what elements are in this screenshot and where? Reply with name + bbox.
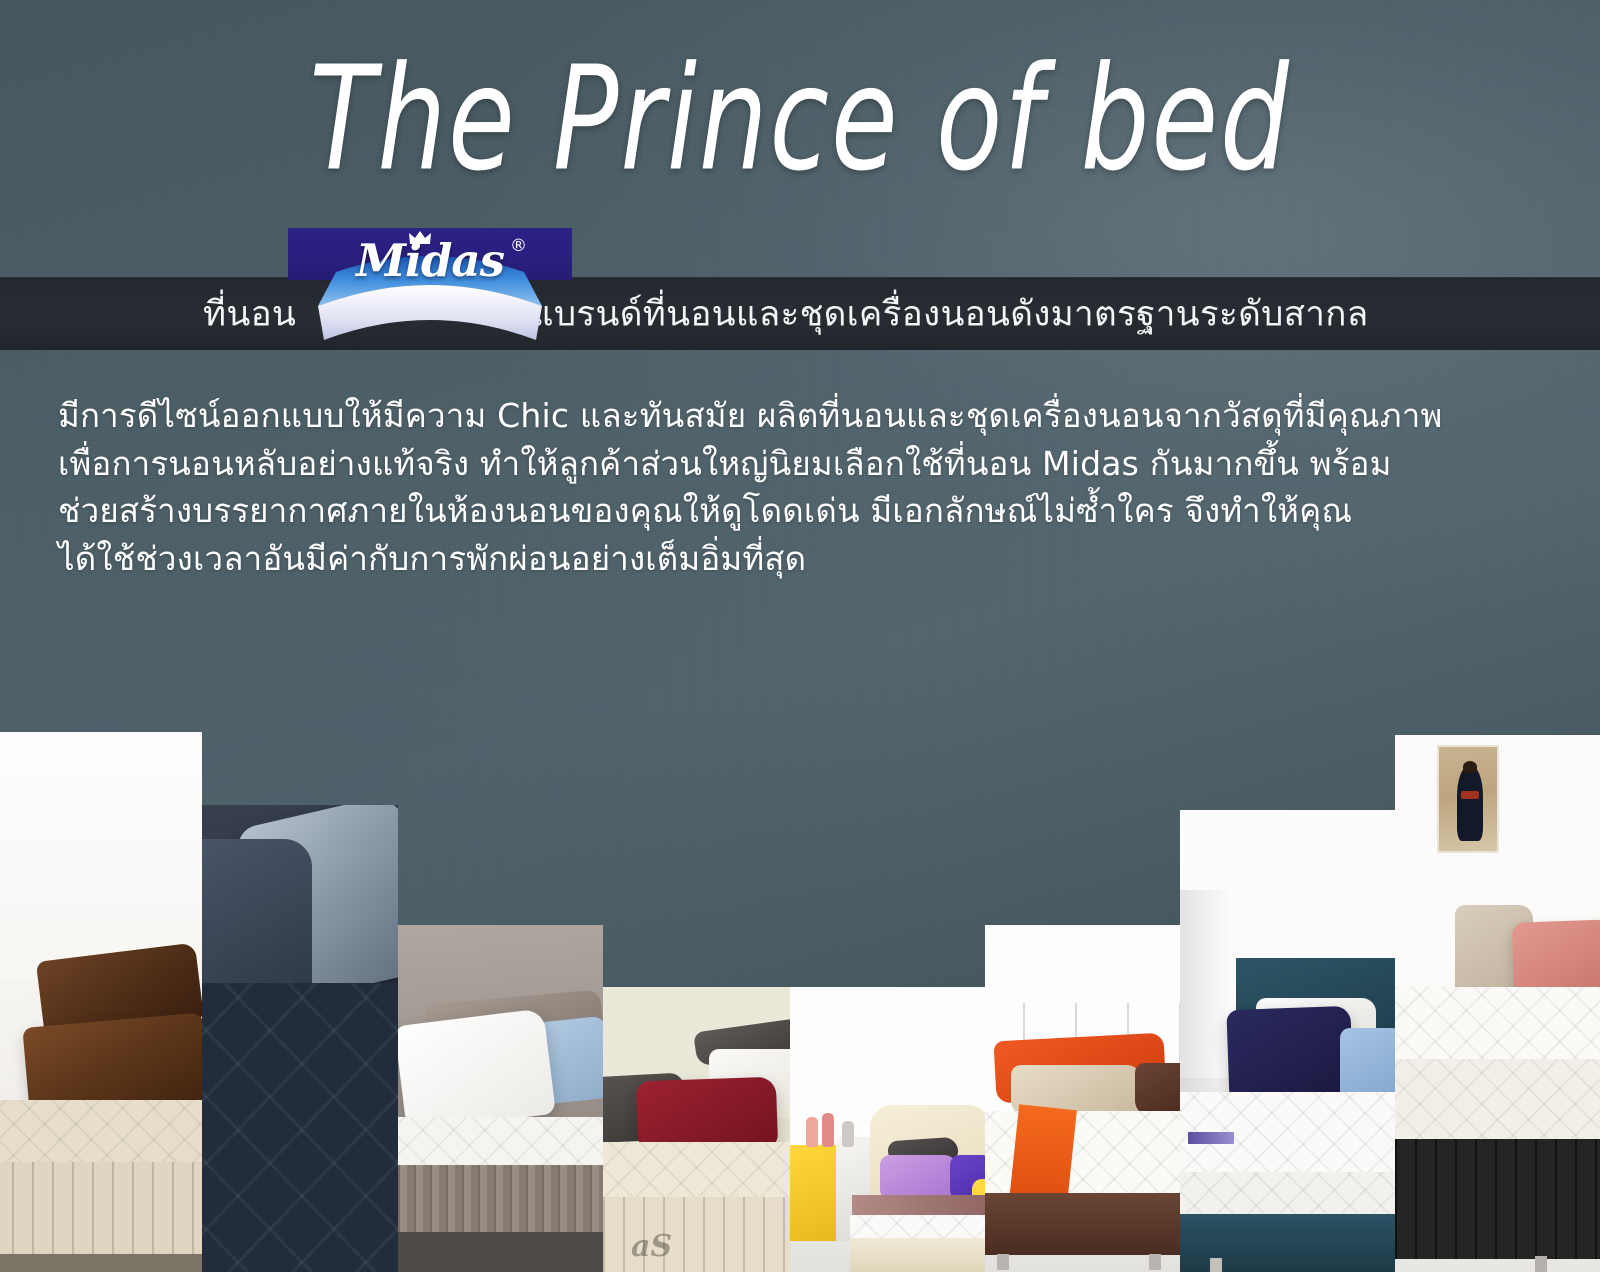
banner-label-tagline: แบรนด์ที่นอนและชุดเครื่องนอนดังมาตรฐานระ… [531,286,1368,341]
bed-foot-right [1149,1254,1161,1270]
bed-foot-left [997,1254,1009,1270]
panel-maroon-pillow-bed: aS [603,987,790,1272]
bed-base-dark [398,1232,603,1272]
registered-trademark-icon: ® [510,236,527,256]
bed-foot-black [1535,1256,1547,1272]
mattress-white-pillowtop [1395,987,1600,1065]
bed-base-cream [850,1238,985,1272]
nightstand-yellow [790,1145,840,1241]
mattress-topper-cream [0,1100,202,1166]
bed-foot-teal [1210,1258,1222,1272]
quilt-navy [202,983,398,1272]
pillow-navy-behind [202,839,312,1007]
bed-base-shadow [0,1254,202,1272]
body-line-2: เพื่อการนอนหลับอย่างแท้จริง ทำให้ลูกค้าส… [58,440,1548,488]
brand-banner: ที่นอน แบรนด์ที่นอนและชุดเครื่องนอนดังมา… [0,277,1600,350]
wall-artwork-kimono [1437,745,1499,853]
body-line-3: ช่วยสร้างบรรยากาศภายในห้องนอนของคุณให้ดู… [58,487,1548,535]
mattress-white-top [398,1117,603,1169]
pillow-white-main [398,1008,556,1131]
body-paragraph: มีการดีไซน์ออกแบบให้มีความ Chic และทันสม… [58,392,1548,582]
body-line-4: ได้ใช้ช่วงเวลาอันมีค่ากับการพักผ่อนอย่าง… [58,535,1548,583]
vase-rose [822,1113,834,1147]
kimono-figure-icon [1457,767,1483,841]
panel-taupe-headboard-bed [398,925,603,1272]
page-title: The Prince of bed [64,44,1536,195]
crown-icon [408,230,432,246]
vase-pink [806,1117,818,1147]
panel-brown-headboard-orange [985,925,1180,1272]
vase-grey [842,1121,854,1147]
mattress-label-tag [1188,1132,1234,1144]
midas-logo: Midas ® [288,228,572,346]
mattress-cream-quilted [603,1142,790,1200]
bed-base-black [1395,1139,1600,1259]
kimono-sash [1461,791,1479,799]
panel-navy-quilted-bedding [202,805,398,1272]
panel-cream-bed-brown-pillows [0,732,202,1272]
bed-base-brown [985,1193,1180,1255]
midas-watermark: aS [631,1229,672,1264]
panel-purple-pillow-bedroom [790,987,985,1272]
pillow-brown-right [1135,1063,1180,1115]
panel-black-tufted-headboard [1395,735,1600,1272]
poster-root: The Prince of bed ที่นอน แบรนด์ที่นอนและ… [0,0,1600,1272]
product-photo-strip: aS [0,700,1600,1272]
mattress-side-ribbed [398,1165,603,1233]
brand-banner-inner: ที่นอน แบรนด์ที่นอนและชุดเครื่องนอนดังมา… [0,277,1600,350]
banner-label-mattress: ที่นอน [203,286,296,341]
mattress-lower-pillowtop [1395,1059,1600,1143]
panel-teal-headboard-navy [1180,810,1395,1272]
kimono-hair [1463,761,1477,773]
body-line-1: มีการดีไซน์ออกแบบให้มีความ Chic และทันสม… [58,392,1548,440]
